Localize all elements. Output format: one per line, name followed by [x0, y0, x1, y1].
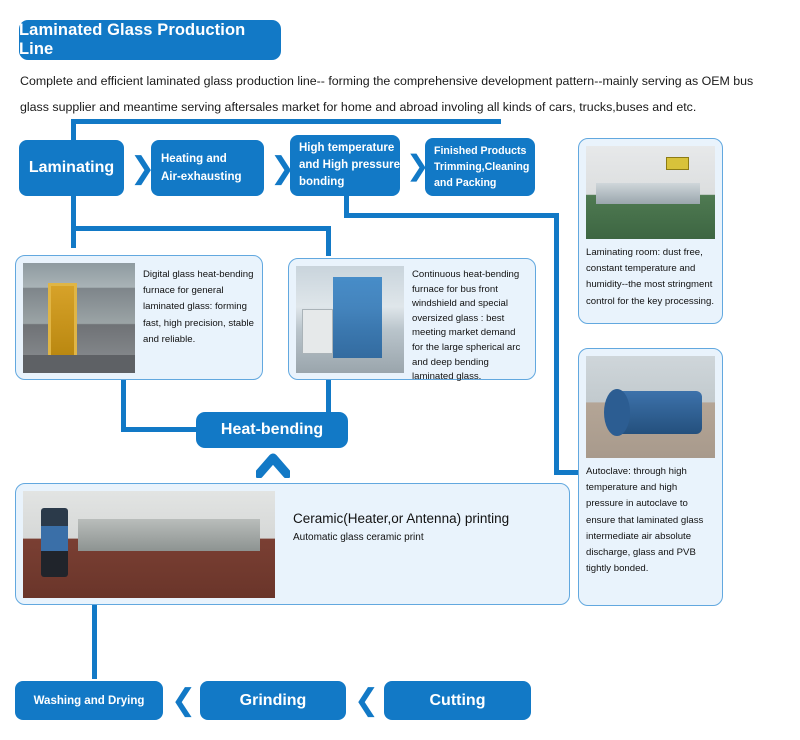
chevron-up-icon: [256, 452, 290, 483]
card-laminating-room-text: Laminating room: dust free, constant tem…: [586, 239, 715, 310]
card-autoclave-text: Autoclave: through high temperature and …: [586, 458, 715, 577]
laminating-room-photo: [586, 146, 715, 239]
flow-step-cutting-label: Cutting: [384, 692, 531, 710]
intro-paragraph: Complete and efficient laminated glass p…: [20, 68, 780, 120]
ceramic-printing-photo: [23, 491, 275, 598]
card-continuous-furnace: Continuous heat-bending furnace for bus …: [288, 258, 536, 380]
card-ceramic-printing: Ceramic(Heater,or Antenna) printing Auto…: [15, 483, 570, 605]
diagram-canvas: Laminated Glass Production Line Complete…: [0, 0, 800, 740]
connector-laminating-down: [71, 196, 76, 248]
flow-step-cutting[interactable]: Cutting: [384, 681, 531, 720]
card-autoclave: Autoclave: through high temperature and …: [578, 348, 723, 606]
page-title: Laminated Glass Production Line: [19, 20, 281, 60]
chevron-left-icon-1: ❮: [171, 686, 196, 716]
connector-furnace-to-pill: [121, 427, 203, 432]
connector-furnace-down: [121, 380, 126, 432]
card-ceramic-printing-body: Ceramic(Heater,or Antenna) printing Auto…: [275, 491, 509, 597]
flow-step-grinding[interactable]: Grinding: [200, 681, 346, 720]
flow-step-high-temperature[interactable]: High temperature and High pressure bondi…: [290, 135, 400, 196]
flow-step-laminating-label: Laminating: [19, 159, 124, 177]
autoclave-photo: [586, 356, 715, 458]
card-ceramic-printing-subtitle: Automatic glass ceramic print: [293, 532, 509, 543]
flow-step-finished-products[interactable]: Finished Products Trimming,Cleaning and …: [425, 138, 535, 196]
card-digital-furnace: Digital glass heat-bending furnace for g…: [15, 255, 263, 380]
flow-step-laminating[interactable]: Laminating: [19, 140, 124, 196]
card-ceramic-printing-title: Ceramic(Heater,or Antenna) printing: [293, 511, 509, 526]
heat-bending-label: Heat-bending: [221, 421, 323, 439]
connector-right-column-vertical: [554, 213, 559, 475]
flow-step-washing-drying-label: Washing and Drying: [15, 695, 163, 707]
chevron-left-icon-2: ❮: [354, 686, 379, 716]
connector-ceramic-down: [92, 605, 97, 679]
connector-to-continuous-card: [326, 226, 331, 256]
connector-cards-row-horizontal: [71, 226, 331, 231]
heat-bending-furnace-photo: [23, 263, 135, 373]
connector-highpressure-right: [344, 213, 559, 218]
flow-step-grinding-label: Grinding: [200, 692, 346, 710]
heat-bending-pill[interactable]: Heat-bending: [196, 412, 348, 448]
flow-step-finished-products-label: Finished Products Trimming,Cleaning and …: [434, 143, 535, 191]
card-digital-furnace-text: Digital glass heat-bending furnace for g…: [135, 263, 255, 372]
page-title-text: Laminated Glass Production Line: [19, 21, 281, 59]
continuous-furnace-photo: [296, 266, 404, 373]
card-continuous-furnace-text: Continuous heat-bending furnace for bus …: [404, 266, 528, 372]
flow-step-heating[interactable]: Heating and Air-exhausting: [151, 140, 264, 196]
flow-step-washing-drying[interactable]: Washing and Drying: [15, 681, 163, 720]
card-laminating-room: Laminating room: dust free, constant tem…: [578, 138, 723, 324]
flow-step-high-temperature-label: High temperature and High pressure bondi…: [299, 140, 400, 191]
flow-step-heating-label: Heating and Air-exhausting: [161, 150, 264, 186]
